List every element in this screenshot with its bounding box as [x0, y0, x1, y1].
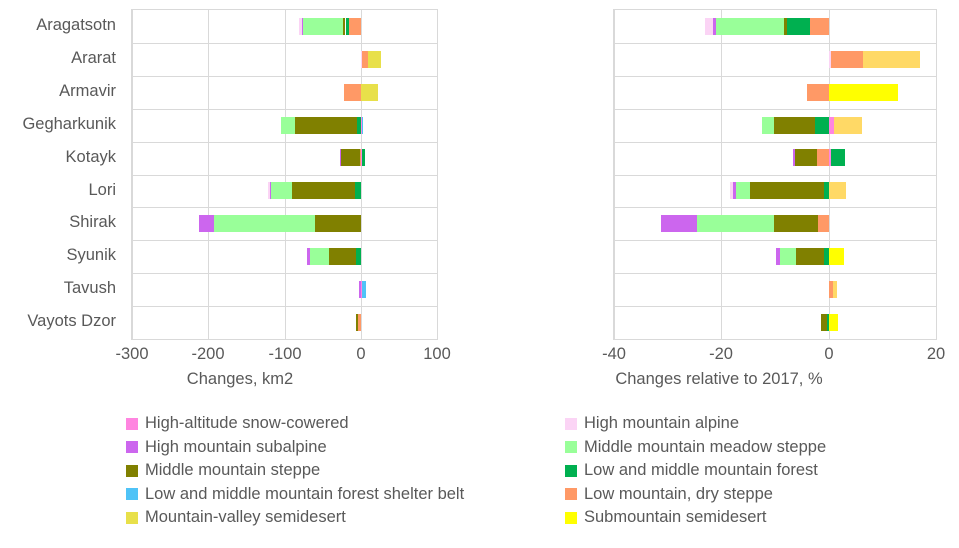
- bar-segment: [299, 18, 301, 35]
- bar-segment: [705, 18, 713, 35]
- legend-label: Mountain-valley semidesert: [145, 506, 346, 530]
- bar-segment: [796, 248, 824, 265]
- legend-item: High mountain subalpine: [126, 436, 464, 460]
- bar-segment: [780, 248, 796, 265]
- gridline-horizontal: [132, 43, 437, 44]
- gridline-horizontal: [132, 76, 437, 77]
- bar-segment: [356, 248, 361, 265]
- legend-column-left: High-altitude snow-coweredHigh mountain …: [126, 412, 464, 530]
- bar-segment: [295, 117, 357, 134]
- gridline-horizontal: [614, 109, 936, 110]
- legend-swatch-icon: [565, 512, 577, 524]
- legend-item: Middle mountain steppe: [126, 459, 464, 483]
- bar-row: [614, 51, 936, 68]
- bar-row: [614, 182, 936, 199]
- legend-label: Submountain semidesert: [584, 506, 767, 530]
- bar-segment: [815, 117, 829, 134]
- bar-row: [132, 182, 437, 199]
- x-axis-title-left: Changes, km2: [0, 370, 480, 389]
- bar-segment: [368, 51, 380, 68]
- bar-segment: [358, 314, 360, 331]
- legend-label: Low mountain, dry steppe: [584, 483, 773, 507]
- gridline-horizontal: [132, 109, 437, 110]
- gridline-horizontal: [132, 306, 437, 307]
- x-axis-tick-label: 100: [423, 345, 451, 364]
- bar-segment: [821, 314, 826, 331]
- bar-segment: [362, 281, 366, 298]
- bar-row: [614, 215, 936, 232]
- x-axis-title-right: Changes relative to 2017, %: [479, 370, 959, 389]
- x-axis-tick-label: 20: [927, 345, 945, 364]
- bar-segment: [774, 117, 815, 134]
- gridline-horizontal: [132, 240, 437, 241]
- bar-segment: [807, 84, 828, 101]
- bar-segment: [362, 117, 364, 134]
- gridline-horizontal: [132, 207, 437, 208]
- bar-segment: [793, 149, 795, 166]
- bar-segment: [829, 182, 846, 199]
- bar-segment: [774, 215, 818, 232]
- legend-label: High-altitude snow-cowered: [145, 412, 349, 436]
- chart-panel-changes-km2: AragatsotnAraratArmavirGegharkunikKotayk…: [0, 0, 480, 410]
- category-label-syunik: Syunik: [66, 239, 116, 272]
- legend-item: Low and middle mountain forest: [565, 459, 826, 483]
- legend-swatch-icon: [565, 418, 577, 430]
- bar-segment: [361, 84, 378, 101]
- bar-segment: [270, 182, 271, 199]
- plot-area-right: [613, 9, 937, 340]
- bar-row: [614, 248, 936, 265]
- bar-row: [132, 281, 437, 298]
- bar-segment: [271, 182, 292, 199]
- bar-segment: [831, 149, 845, 166]
- legend-item: Low and middle mountain forest shelter b…: [126, 483, 464, 507]
- bar-segment: [784, 18, 787, 35]
- category-axis-labels-left: AragatsotnAraratArmavirGegharkunikKotayk…: [0, 9, 126, 348]
- bar-segment: [716, 18, 784, 35]
- bar-segment: [776, 248, 780, 265]
- category-label-vayots-dzor: Vayots Dzor: [27, 305, 116, 338]
- category-label-aragatsotn: Aragatsotn: [36, 9, 116, 42]
- bar-segment: [356, 314, 358, 331]
- x-axis-tick-label: -100: [268, 345, 301, 364]
- legend-label: High mountain alpine: [584, 412, 739, 436]
- category-label-kotayk: Kotayk: [66, 141, 116, 174]
- gridline-horizontal: [614, 240, 936, 241]
- bar-row: [614, 149, 936, 166]
- bar-segment: [736, 182, 750, 199]
- bar-row: [132, 84, 437, 101]
- charts-container: AragatsotnAraratArmavirGegharkunikKotayk…: [0, 0, 959, 410]
- bar-row: [614, 281, 936, 298]
- x-axis-tick-label: 0: [824, 345, 833, 364]
- legend-swatch-icon: [126, 512, 138, 524]
- bar-segment: [214, 215, 315, 232]
- bar-segment: [697, 215, 774, 232]
- legend-swatch-icon: [565, 488, 577, 500]
- gridline-horizontal: [132, 142, 437, 143]
- bar-segment: [268, 182, 269, 199]
- bar-row: [132, 117, 437, 134]
- bar-row: [614, 314, 936, 331]
- bar-segment: [346, 18, 349, 35]
- bar-segment: [795, 149, 816, 166]
- bar-segment: [831, 51, 863, 68]
- x-axis-tick-label: -40: [602, 345, 626, 364]
- gridline-horizontal: [614, 207, 936, 208]
- legend-label: Middle mountain meadow steppe: [584, 436, 826, 460]
- bar-segment: [817, 149, 829, 166]
- bar-segment: [329, 248, 356, 265]
- gridline-horizontal: [614, 142, 936, 143]
- legend-label: Low and middle mountain forest: [584, 459, 818, 483]
- bar-row: [132, 51, 437, 68]
- bar-segment: [341, 149, 360, 166]
- legend-swatch-icon: [126, 418, 138, 430]
- bar-segment: [762, 117, 774, 134]
- bar-segment: [281, 117, 295, 134]
- category-label-shirak: Shirak: [69, 206, 116, 239]
- legend-label: High mountain subalpine: [145, 436, 327, 460]
- plot-area-left: [131, 9, 438, 340]
- bar-segment: [829, 248, 844, 265]
- gridline-horizontal: [614, 175, 936, 176]
- x-axis-tick-label: -20: [709, 345, 733, 364]
- category-label-tavush: Tavush: [64, 272, 116, 305]
- legend-column-right: High mountain alpineMiddle mountain mead…: [565, 412, 826, 530]
- bar-segment: [863, 51, 920, 68]
- bar-row: [132, 149, 437, 166]
- category-label-armavir: Armavir: [59, 75, 116, 108]
- chart-legend: High-altitude snow-coweredHigh mountain …: [0, 412, 959, 548]
- bar-row: [614, 18, 936, 35]
- bar-segment: [818, 215, 829, 232]
- bar-segment: [307, 248, 311, 265]
- bar-segment: [829, 84, 899, 101]
- gridline-horizontal: [614, 306, 936, 307]
- bar-segment: [730, 182, 733, 199]
- bar-segment: [310, 248, 329, 265]
- bar-segment: [787, 18, 811, 35]
- legend-item: Mountain-valley semidesert: [126, 506, 464, 530]
- gridline-vertical: [437, 10, 438, 339]
- legend-label: Middle mountain steppe: [145, 459, 320, 483]
- bar-segment: [302, 18, 303, 35]
- gridline-horizontal: [614, 273, 936, 274]
- legend-swatch-icon: [126, 465, 138, 477]
- bar-segment: [829, 314, 839, 331]
- chart-panel-changes-percent: -40-20020 Changes relative to 2017, %: [479, 0, 959, 410]
- legend-swatch-icon: [565, 441, 577, 453]
- gridline-horizontal: [614, 43, 936, 44]
- legend-item: High mountain alpine: [565, 412, 826, 436]
- bar-segment: [343, 18, 345, 35]
- gridline-horizontal: [614, 76, 936, 77]
- bar-segment: [315, 215, 361, 232]
- bar-segment: [340, 149, 341, 166]
- bar-segment: [292, 182, 355, 199]
- bar-row: [132, 215, 437, 232]
- bar-row: [614, 117, 936, 134]
- legend-swatch-icon: [565, 465, 577, 477]
- bar-segment: [661, 215, 696, 232]
- category-label-lori: Lori: [88, 174, 116, 207]
- bar-segment: [810, 18, 828, 35]
- gridline-horizontal: [132, 273, 437, 274]
- category-label-ararat: Ararat: [71, 42, 116, 75]
- legend-item: High-altitude snow-cowered: [126, 412, 464, 436]
- bar-segment: [833, 281, 837, 298]
- bar-row: [132, 314, 437, 331]
- bar-segment: [344, 84, 361, 101]
- legend-item: Submountain semidesert: [565, 506, 826, 530]
- bar-row: [132, 248, 437, 265]
- legend-item: Middle mountain meadow steppe: [565, 436, 826, 460]
- x-axis-tick-label: 0: [356, 345, 365, 364]
- bar-segment: [355, 182, 361, 199]
- gridline-vertical: [936, 10, 937, 339]
- bar-segment: [362, 149, 365, 166]
- x-axis-tick-label: -200: [191, 345, 224, 364]
- bar-segment: [349, 18, 361, 35]
- bar-segment: [713, 18, 716, 35]
- legend-item: Low mountain, dry steppe: [565, 483, 826, 507]
- bar-segment: [199, 215, 214, 232]
- legend-swatch-icon: [126, 488, 138, 500]
- legend-swatch-icon: [126, 441, 138, 453]
- x-axis-tick-label: -300: [115, 345, 148, 364]
- category-label-gegharkunik: Gegharkunik: [22, 108, 116, 141]
- bar-segment: [303, 18, 343, 35]
- bar-row: [614, 84, 936, 101]
- legend-label: Low and middle mountain forest shelter b…: [145, 483, 464, 507]
- bar-row: [132, 18, 437, 35]
- gridline-horizontal: [132, 175, 437, 176]
- bar-segment: [750, 182, 824, 199]
- bar-segment: [733, 182, 736, 199]
- bar-segment: [834, 117, 862, 134]
